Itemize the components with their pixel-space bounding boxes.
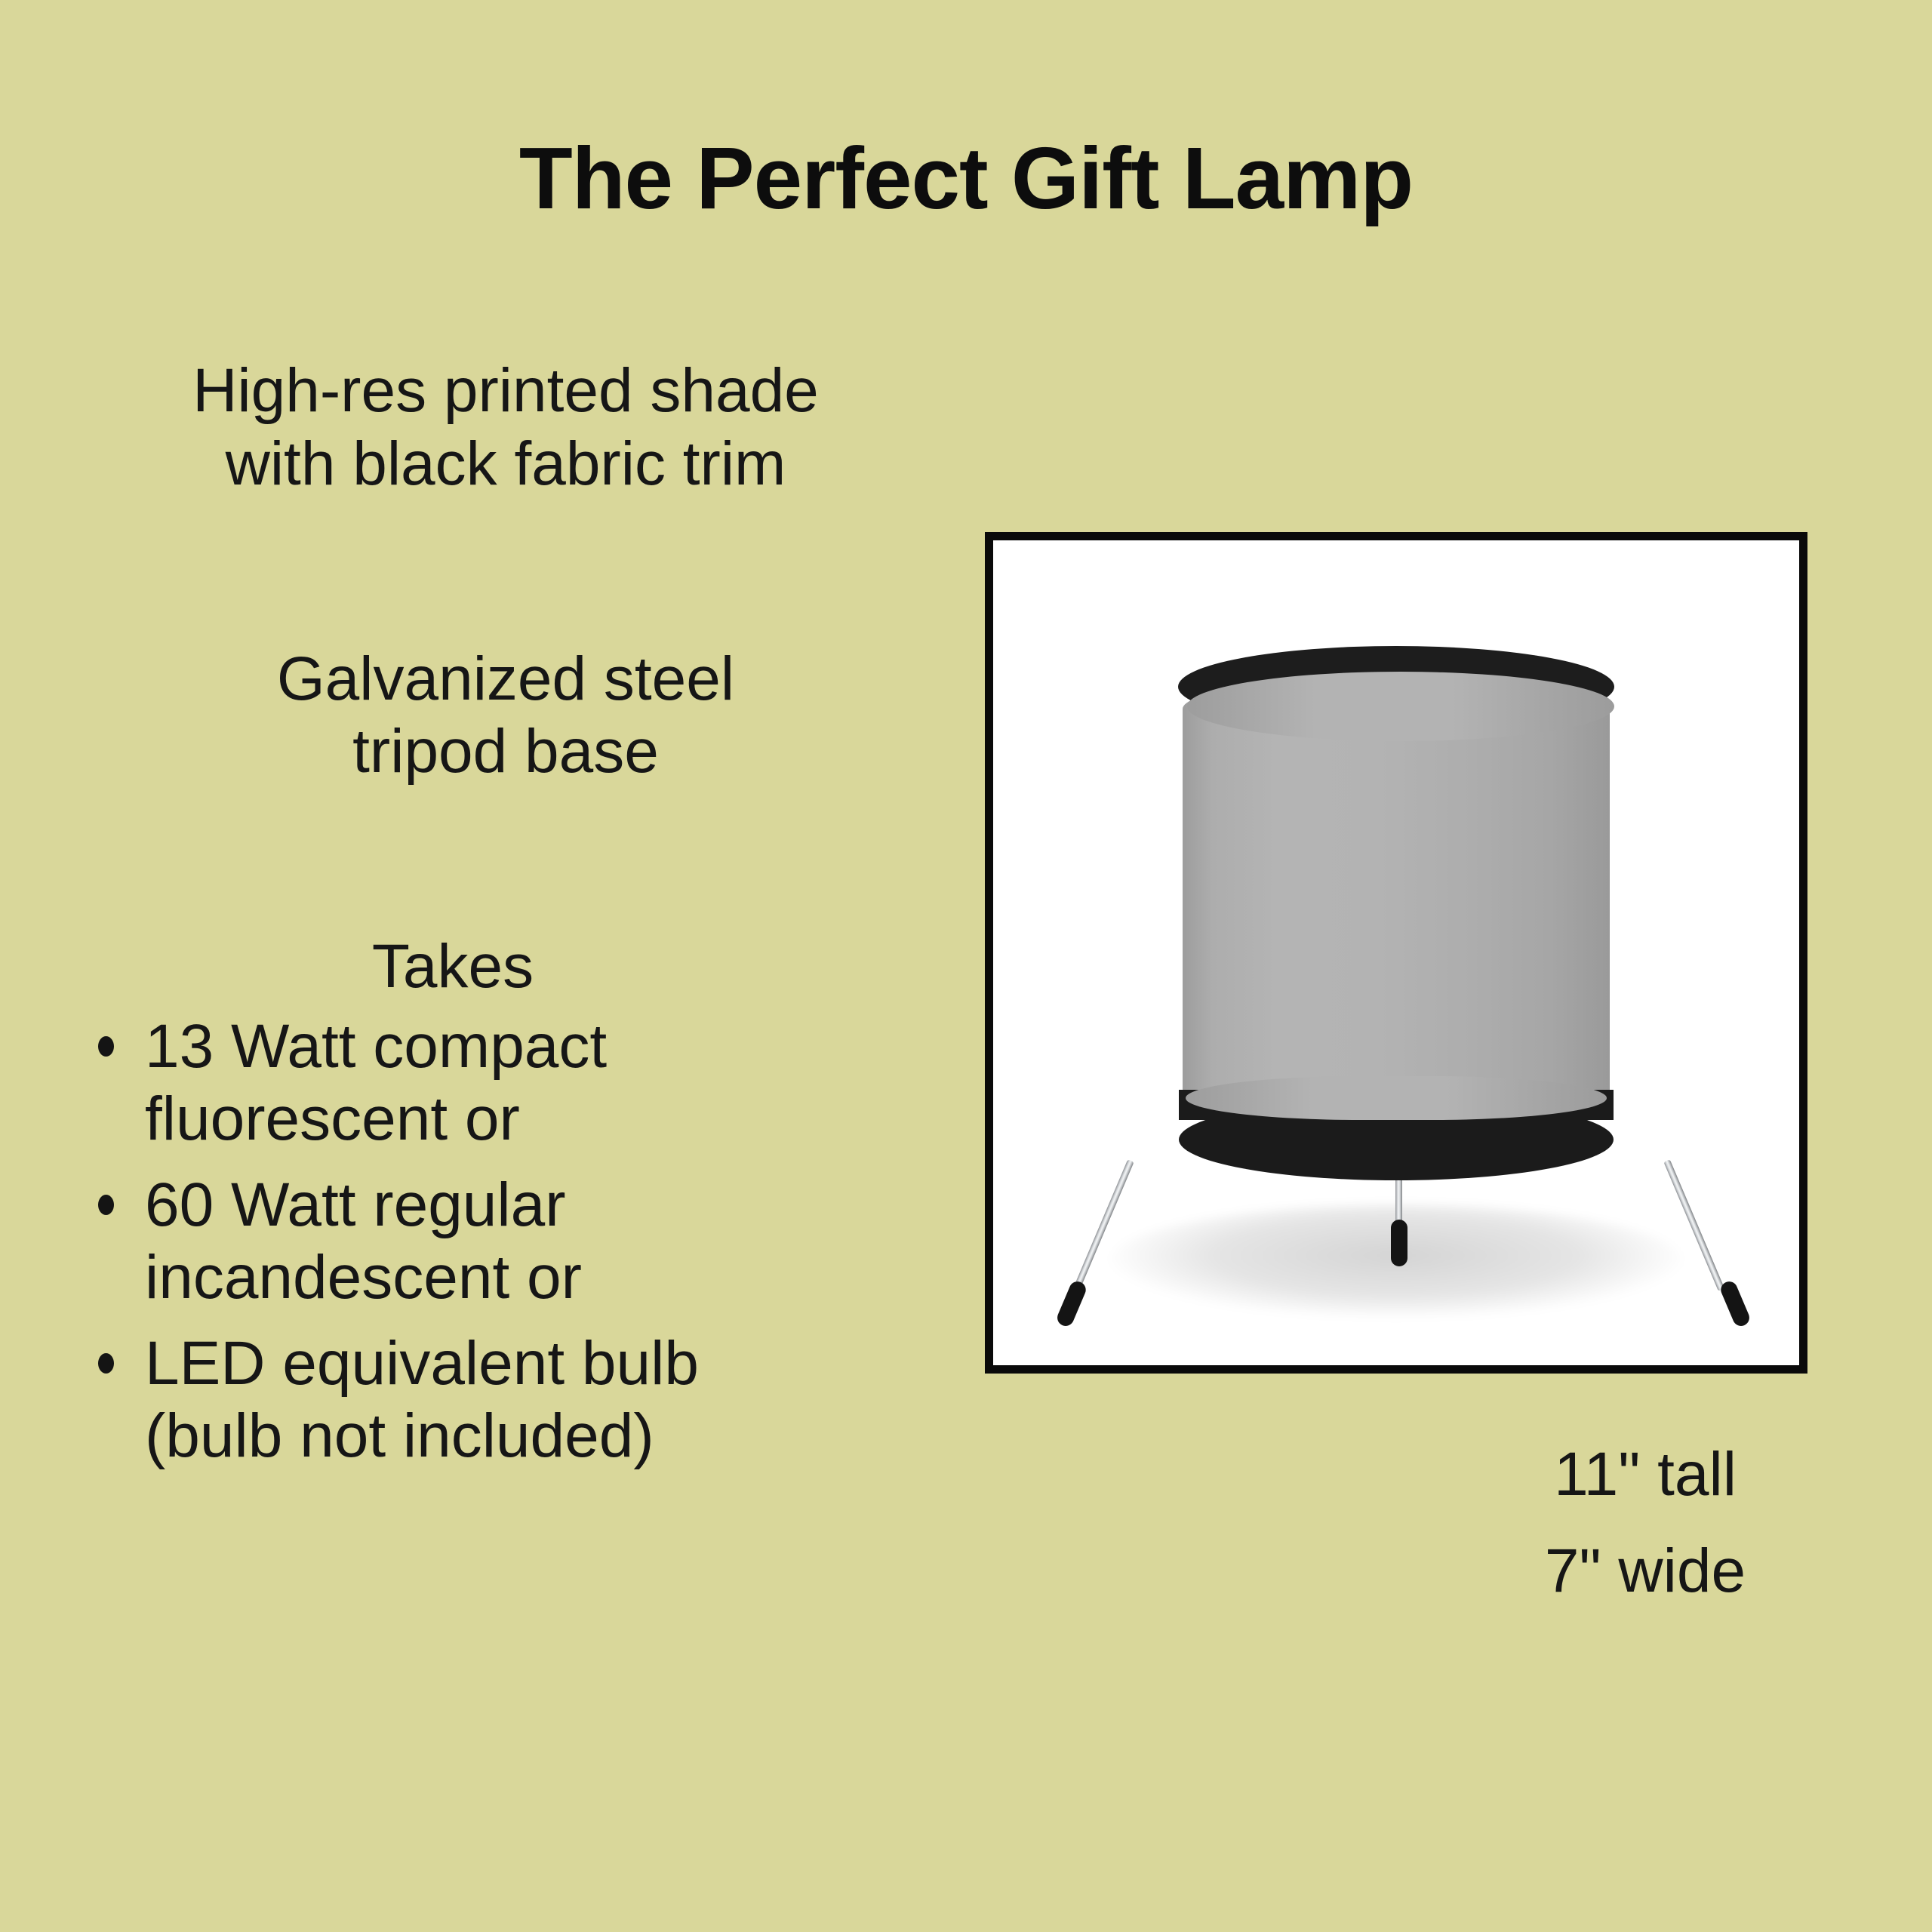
tripod-foot-right — [1718, 1279, 1752, 1329]
lamp-shade-body — [1183, 678, 1610, 1143]
feature-copy-column: High-res printed shade with black fabric… — [53, 355, 958, 1472]
list-item: 13 Watt compact fluorescent or — [98, 1011, 958, 1155]
tripod-foot-center — [1391, 1220, 1407, 1266]
list-item: 60 Watt regular incandescent or — [98, 1169, 958, 1314]
page-title: The Perfect Gift Lamp — [0, 132, 1932, 225]
bulb-option-2-line-1: 60 Watt regular — [145, 1169, 958, 1241]
feature-base-line-2: tripod base — [53, 715, 958, 789]
list-item: LED equivalent bulb (bulb not included) — [98, 1327, 958, 1472]
product-image-stage — [993, 540, 1799, 1365]
product-image-frame — [985, 532, 1807, 1374]
poster-canvas: The Perfect Gift Lamp High-res printed s… — [0, 0, 1932, 1932]
lamp-shade-lower-face — [1186, 1076, 1607, 1120]
bulb-option-1-line-2: fluorescent or — [145, 1083, 958, 1155]
lamp-top-trim-inner-face — [1187, 672, 1614, 741]
bullet-dot-icon — [98, 1353, 114, 1374]
bulb-option-3-line-1: LED equivalent bulb — [145, 1327, 958, 1400]
feature-base-line-1: Galvanized steel — [53, 643, 958, 716]
bulb-not-included-note: (bulb not included) — [145, 1400, 958, 1472]
bulb-requirements-section: Takes 13 Watt compact fluorescent or 60 … — [53, 932, 958, 1472]
feature-base-description: Galvanized steel tripod base — [53, 643, 958, 789]
bullet-dot-icon — [98, 1036, 114, 1057]
bulb-options-list: 13 Watt compact fluorescent or 60 Watt r… — [53, 1011, 958, 1472]
dimension-width: 7" wide — [1434, 1523, 1857, 1620]
dimension-height: 11" tall — [1434, 1426, 1857, 1523]
feature-shade-line-1: High-res printed shade — [53, 355, 958, 428]
takes-heading: Takes — [53, 932, 958, 1001]
bullet-dot-icon — [98, 1195, 114, 1215]
feature-shade-line-2: with black fabric trim — [53, 428, 958, 501]
tripod-foot-left — [1055, 1279, 1088, 1329]
lamp-shade — [1183, 646, 1610, 1174]
bulb-option-2-line-2: incandescent or — [145, 1241, 958, 1314]
bulb-option-1-line-1: 13 Watt compact — [145, 1011, 958, 1083]
feature-shade-description: High-res printed shade with black fabric… — [53, 355, 958, 501]
dimensions-block: 11" tall 7" wide — [1434, 1426, 1857, 1620]
